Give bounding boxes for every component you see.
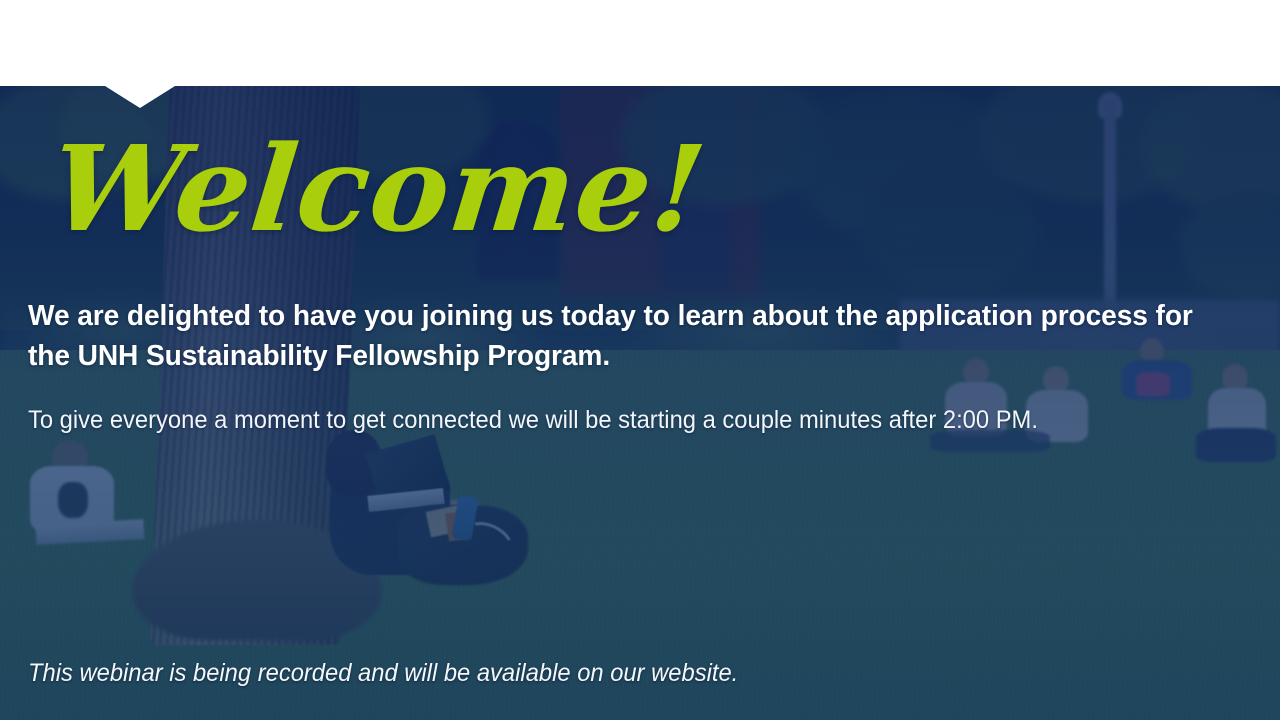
presentation-slide: UNH Sustainability Fellows NH University… (0, 0, 1280, 720)
header-banner (0, 0, 1280, 86)
slide-content: Welcome! We are delighted to have you jo… (0, 0, 1280, 720)
banner-notch-triangle (105, 86, 175, 108)
welcome-script-heading: Welcome! (46, 128, 712, 250)
recording-notice: This webinar is being recorded and will … (28, 656, 1168, 690)
start-time-note: To give everyone a moment to get connect… (28, 403, 1182, 437)
lead-paragraph: We are delighted to have you joining us … (28, 296, 1207, 376)
